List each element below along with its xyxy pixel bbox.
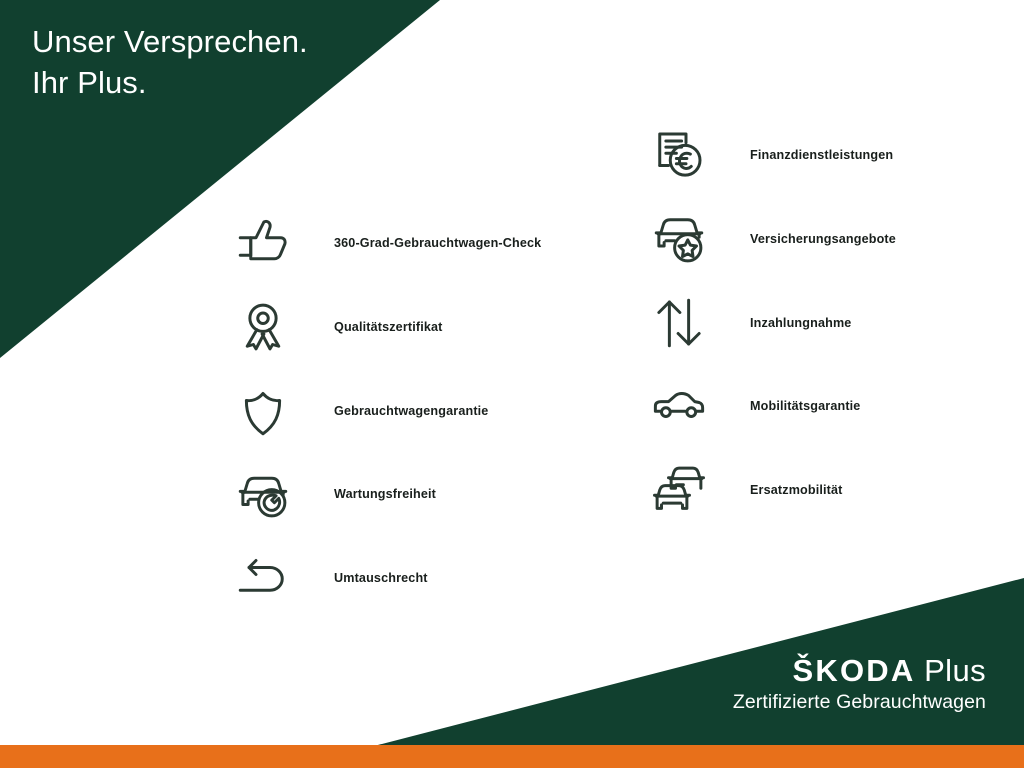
car-side-icon [648, 375, 710, 437]
feature-label: Gebrauchtwagengarantie [334, 404, 488, 418]
feature-item: 360-Grad-Gebrauchtwagen-Check [232, 212, 541, 274]
feature-item: Umtauschrecht [232, 547, 428, 609]
shield-icon [232, 380, 294, 442]
feature-label: Umtauschrecht [334, 571, 428, 585]
feature-label: Mobilitätsgarantie [750, 399, 860, 413]
feature-label: 360-Grad-Gebrauchtwagen-Check [334, 236, 541, 250]
feature-label: Versicherungsangebote [750, 232, 896, 246]
car-wrench-icon [232, 463, 294, 525]
car-star-icon [648, 208, 710, 270]
up-down-arrows-icon [648, 292, 710, 354]
feature-item: Mobilitätsgarantie [648, 375, 860, 437]
page-title: Unser Versprechen. Ihr Plus. [32, 22, 452, 104]
brand-tagline: Zertifizierte Gebrauchtwagen [733, 690, 986, 714]
feature-item: Versicherungsangebote [648, 208, 896, 270]
feature-item: Qualitätszertifikat [232, 296, 443, 358]
brand-name: ŠKODA [793, 653, 916, 688]
award-rosette-icon [232, 296, 294, 358]
feature-label: Qualitätszertifikat [334, 320, 443, 334]
brand-name-row: ŠKODA Plus [733, 654, 986, 687]
orange-footer-bar [0, 745, 1024, 768]
u-turn-arrow-icon [232, 547, 294, 609]
feature-item: Ersatzmobilität [648, 459, 843, 521]
feature-label: Finanzdienstleistungen [750, 148, 893, 162]
thumbs-up-icon [232, 212, 294, 274]
headline-line-1: Unser Versprechen. [32, 22, 452, 63]
feature-item: Wartungsfreiheit [232, 463, 436, 525]
headline-line-2: Ihr Plus. [32, 63, 452, 104]
feature-label: Ersatzmobilität [750, 483, 843, 497]
feature-item: Gebrauchtwagengarantie [232, 380, 488, 442]
two-cars-icon [648, 459, 710, 521]
feature-item: Finanzdienstleistungen [648, 124, 893, 186]
feature-item: Inzahlungnahme [648, 292, 851, 354]
promo-banner: Unser Versprechen. Ihr Plus. 360-Grad-Ge… [0, 0, 1024, 768]
brand-lockup: ŠKODA Plus Zertifizierte Gebrauchtwagen [733, 654, 986, 714]
brand-suffix: Plus [924, 653, 986, 688]
document-euro-icon [648, 124, 710, 186]
feature-label: Wartungsfreiheit [334, 487, 436, 501]
feature-label: Inzahlungnahme [750, 316, 851, 330]
